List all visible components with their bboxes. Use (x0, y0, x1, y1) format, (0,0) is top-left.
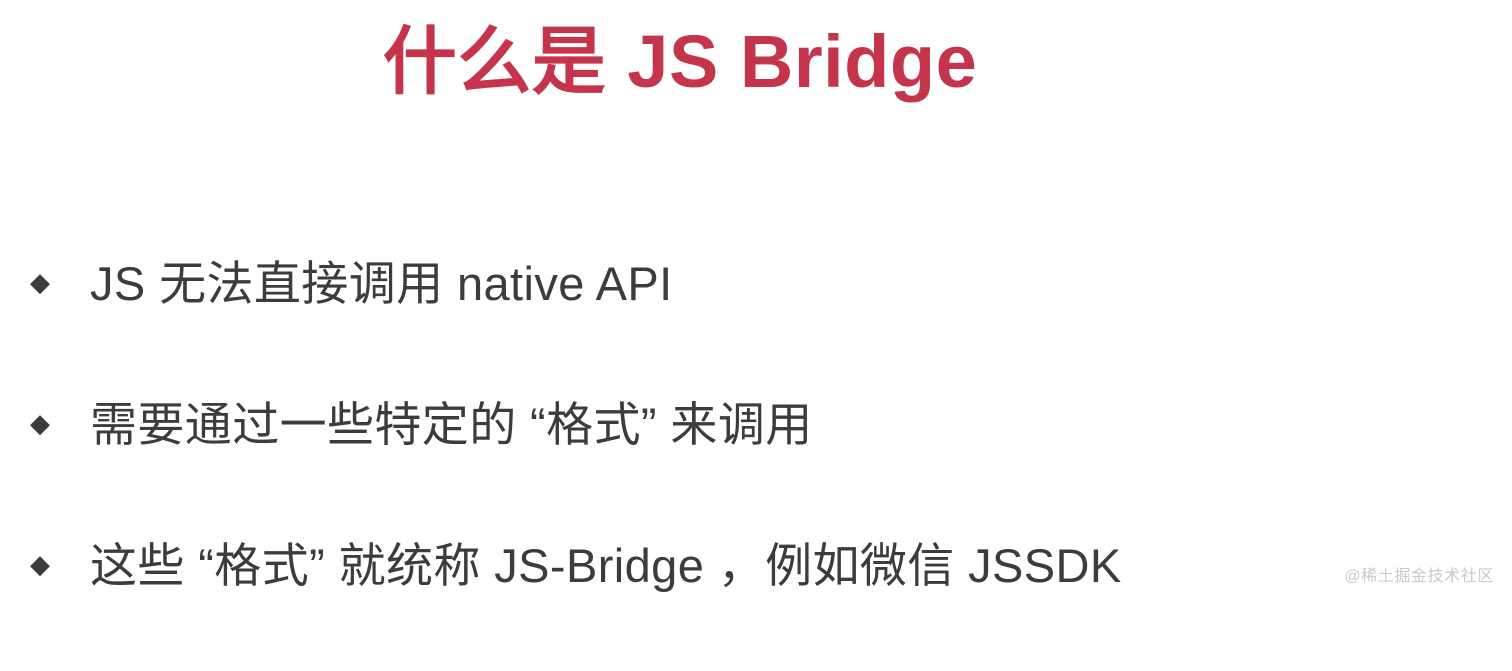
page-title: 什么是 JS Bridge (0, 18, 1360, 105)
list-item-label: 这些 “格式” 就统称 JS-Bridge ，例如微信 JSSDK (90, 535, 1512, 596)
list-item: ◆ JS 无法直接调用 native API (0, 248, 1512, 320)
diamond-bullet-icon: ◆ (30, 410, 54, 436)
list-item: ◆ 需要通过一些特定的 “格式” 来调用 (0, 389, 1512, 461)
watermark: @稀土掘金技术社区 (1344, 567, 1494, 588)
list-item: ◆ 这些 “格式” 就统称 JS-Bridge ，例如微信 JSSDK (0, 530, 1512, 602)
bullet-list: ◆ JS 无法直接调用 native API ◆ 需要通过一些特定的 “格式” … (0, 248, 1512, 671)
list-item-label: JS 无法直接调用 native API (90, 253, 1512, 314)
diamond-bullet-icon: ◆ (30, 551, 54, 577)
presentation-slide: 什么是 JS Bridge ◆ JS 无法直接调用 native API ◆ 需… (0, 0, 1512, 604)
list-item-label: 需要通过一些特定的 “格式” 来调用 (90, 394, 1512, 455)
diamond-bullet-icon: ◆ (30, 269, 54, 295)
